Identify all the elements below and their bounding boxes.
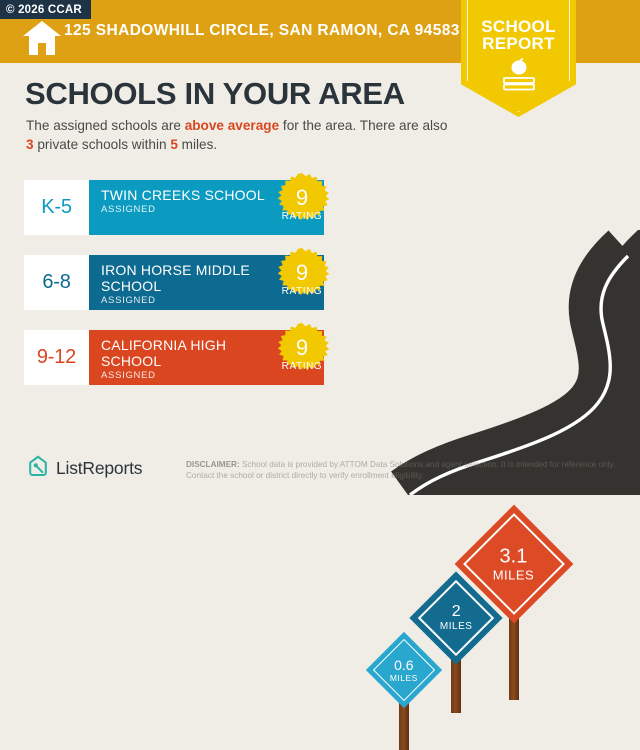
property-address: 125 SHADOWHILL CIRCLE, SAN RAMON, CA 945… (64, 22, 460, 40)
school-rating-badge: 9 RATING (268, 323, 336, 391)
school-rating-badge: 9 RATING (268, 173, 336, 241)
page-subtitle: The assigned schools are above average f… (26, 116, 456, 154)
subtitle-part-2: for the area. There are also (279, 118, 447, 133)
sign-unit: MILES (493, 568, 535, 581)
listreports-logo-text: ListReports (56, 458, 142, 479)
school-name: CALIFORNIA HIGH SCHOOL (101, 337, 276, 369)
grade-range-label: K-5 (41, 196, 72, 219)
school-name: IRON HORSE MIDDLE SCHOOL (101, 262, 276, 294)
disclaimer-body: School data is provided by ATTOM Data So… (186, 460, 615, 480)
grade-range-box: 9-12 (24, 330, 89, 385)
sign-text: 0.6 MILES (390, 658, 418, 683)
copyright-text: © 2026 CCAR (6, 4, 82, 16)
subtitle-highlight-1: above average (185, 118, 279, 133)
subtitle-part-3: private schools within (34, 137, 171, 152)
sign-distance: 3.1 (493, 546, 535, 566)
rating-label: RATING (268, 211, 336, 222)
subtitle-highlight-3: 5 (170, 137, 178, 152)
badge-line-1: SCHOOL (461, 18, 576, 35)
rating-value: 9 (268, 187, 336, 209)
rating-label: RATING (268, 286, 336, 297)
school-report-title: SCHOOL REPORT (461, 18, 576, 52)
school-report-badge: SCHOOL REPORT (461, 0, 576, 117)
house-icon (22, 19, 62, 57)
grade-range-box: K-5 (24, 180, 89, 235)
sign-distance: 0.6 (390, 658, 418, 672)
subtitle-highlight-2: 3 (26, 137, 34, 152)
listreports-house-tag-icon (27, 455, 49, 482)
subtitle-part-1: The assigned schools are (26, 118, 185, 133)
sign-unit: MILES (390, 674, 418, 683)
rating-value: 9 (268, 337, 336, 359)
sign-text: 2 MILES (440, 604, 473, 632)
grade-range-label: 6-8 (42, 271, 70, 294)
rating-value: 9 (268, 262, 336, 284)
rating-label: RATING (268, 361, 336, 372)
winding-road-graphic (370, 190, 640, 495)
badge-line-2: REPORT (461, 35, 576, 52)
sign-unit: MILES (440, 622, 473, 632)
disclaimer-text: DISCLAIMER: School data is provided by A… (186, 459, 636, 481)
listreports-logo[interactable]: ListReports (27, 455, 142, 482)
subtitle-part-4: miles. (178, 137, 217, 152)
copyright-badge: © 2026 CCAR (0, 0, 91, 19)
school-name: TWIN CREEKS SCHOOL (101, 187, 276, 203)
page-title: SCHOOLS IN YOUR AREA (25, 76, 405, 112)
grade-range-box: 6-8 (24, 255, 89, 310)
grade-range-label: 9-12 (37, 346, 76, 369)
sign-diamond: 0.6 MILES (366, 632, 442, 708)
school-rating-badge: 9 RATING (268, 248, 336, 316)
disclaimer-label: DISCLAIMER: (186, 460, 240, 469)
sign-text: 3.1 MILES (493, 546, 535, 581)
road-illustration: 3.1 MILES 2 MILES 0.6 MILES (370, 190, 640, 495)
apple-and-books-icon (498, 56, 540, 92)
sign-distance: 2 (440, 604, 473, 620)
